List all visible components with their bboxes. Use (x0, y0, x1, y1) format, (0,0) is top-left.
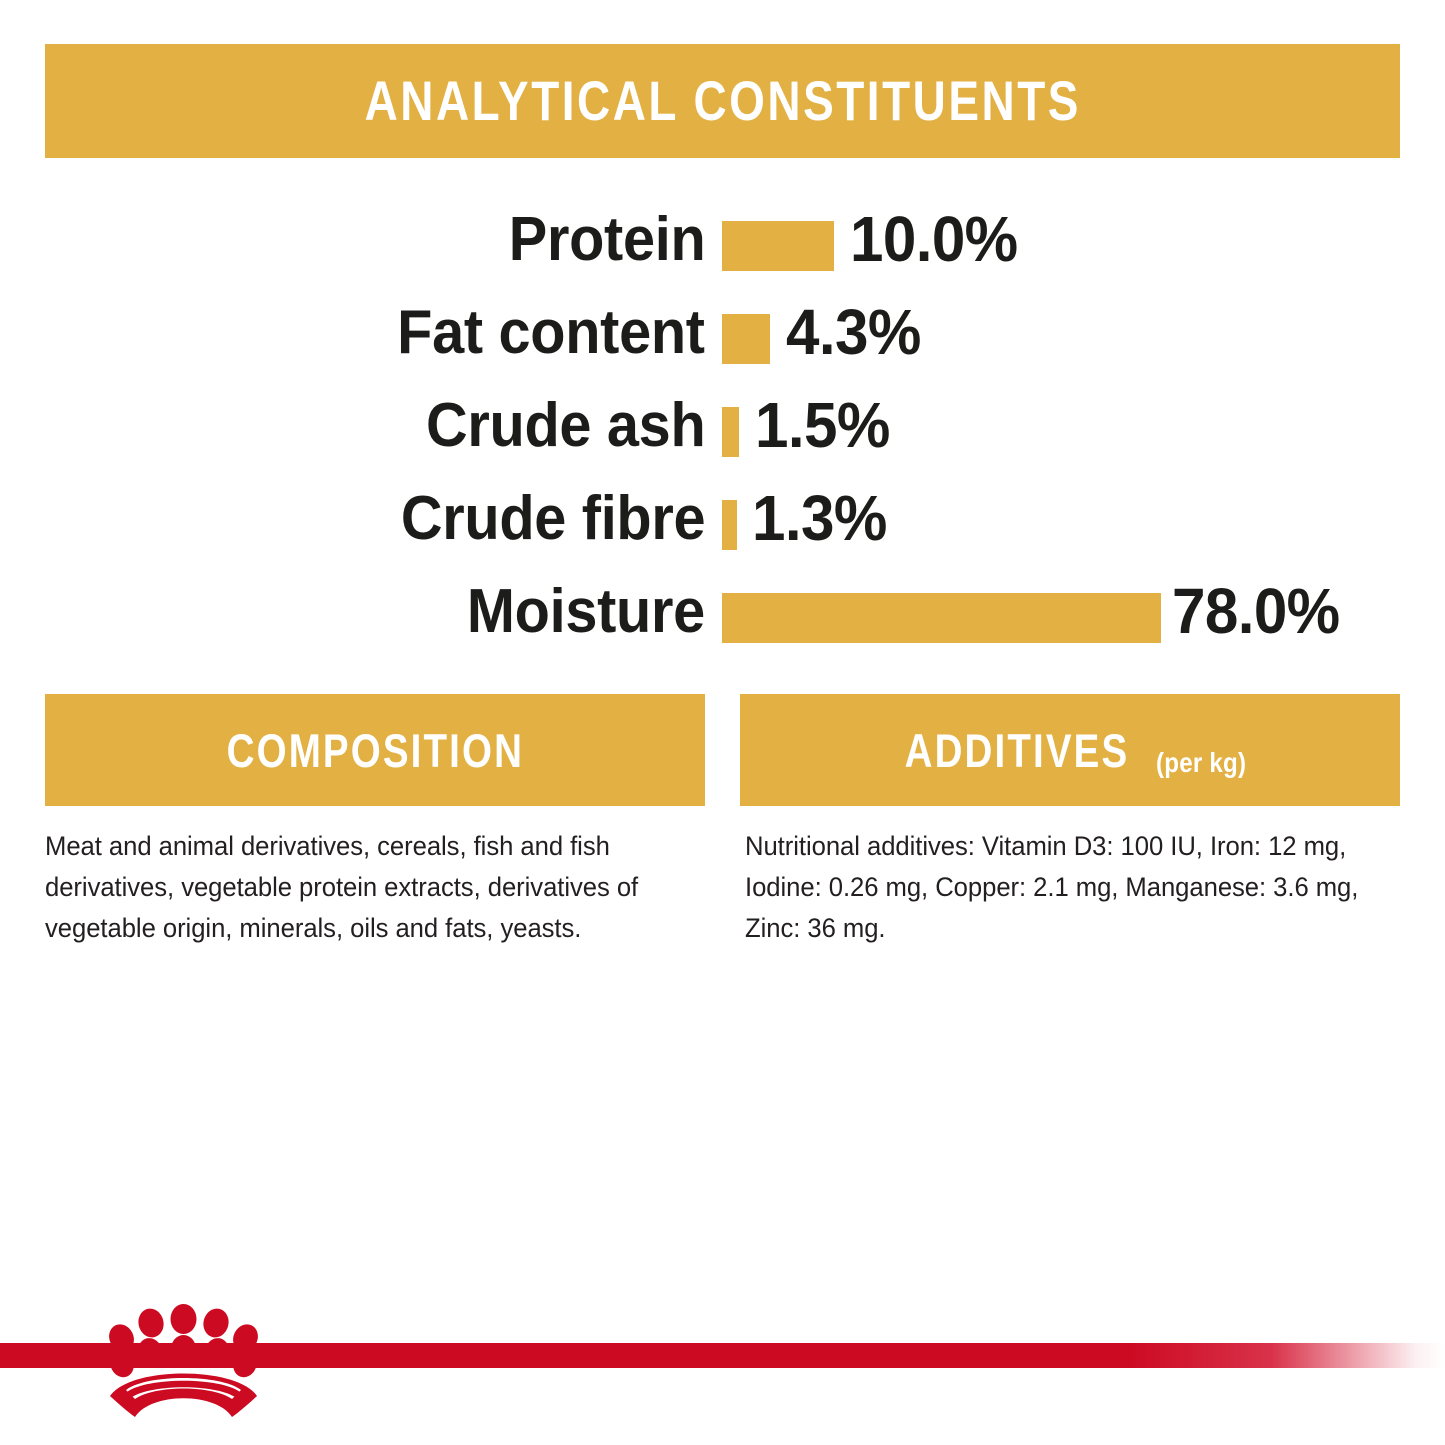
constituent-label-crude-fibre: Crude fibre (401, 479, 705, 572)
constituent-label-moisture: Moisture (467, 572, 705, 665)
composition-title: COMPOSITION (226, 727, 523, 774)
additives-title-suffix: (per kg) (1156, 747, 1246, 779)
analytical-constituents-header: ANALYTICAL CONSTITUENTS (45, 44, 1400, 158)
constituent-bar-moisture (722, 593, 1161, 643)
constituent-bar-fat-content (722, 314, 770, 364)
constituent-label-fat-content: Fat content (397, 293, 705, 386)
composition-text: Meat and animal derivatives, cereals, fi… (45, 826, 691, 949)
constituent-row-fat-content: Fat content 4.3% (0, 293, 1445, 386)
constituent-value-protein: 10.0% (850, 200, 1018, 293)
constituent-value-fat-content: 4.3% (786, 293, 921, 386)
constituent-value-crude-ash: 1.5% (755, 386, 890, 479)
additives-header: ADDITIVES (per kg) (740, 694, 1400, 806)
constituent-row-protein: Protein 10.0% (0, 200, 1445, 293)
additives-title: ADDITIVES (904, 727, 1129, 774)
royal-canin-crown-icon (96, 1300, 271, 1420)
analytical-constituents-chart: Protein 10.0% Fat content 4.3% Crude ash… (0, 200, 1445, 670)
constituent-row-crude-ash: Crude ash 1.5% (0, 386, 1445, 479)
constituent-bar-crude-fibre (722, 500, 737, 550)
constituent-row-moisture: Moisture 78.0% (0, 572, 1445, 665)
constituent-bar-crude-ash (722, 407, 739, 457)
product-info-panel: ANALYTICAL CONSTITUENTS Protein 10.0% Fa… (0, 0, 1445, 1445)
constituent-value-crude-fibre: 1.3% (752, 479, 887, 572)
additives-title-group: ADDITIVES (per kg) (880, 727, 1261, 774)
constituent-value-moisture: 78.0% (1172, 572, 1340, 665)
additives-text: Nutritional additives: Vitamin D3: 100 I… (745, 826, 1410, 949)
footer (0, 1300, 1445, 1445)
constituent-label-protein: Protein (508, 200, 705, 293)
constituent-row-crude-fibre: Crude fibre 1.3% (0, 479, 1445, 572)
page-title: ANALYTICAL CONSTITUENTS (364, 73, 1080, 129)
composition-header: COMPOSITION (45, 694, 705, 806)
constituent-label-crude-ash: Crude ash (426, 386, 705, 479)
constituent-bar-protein (722, 221, 834, 271)
